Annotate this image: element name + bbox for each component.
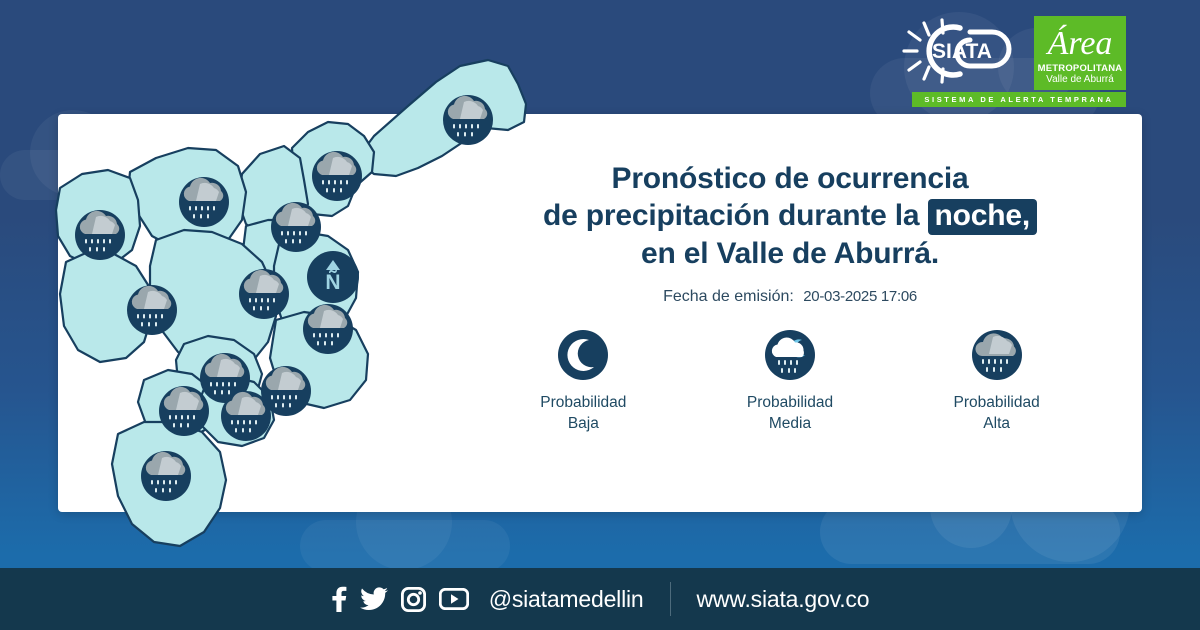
footer-divider bbox=[670, 582, 671, 616]
infographic-root: SIATA Área METROPOLITANA Valle de Aburrá… bbox=[0, 0, 1200, 630]
facebook-icon[interactable] bbox=[331, 586, 347, 612]
svg-text:Área: Área bbox=[1046, 25, 1113, 62]
logo-group: SIATA Área METROPOLITANA Valle de Aburrá… bbox=[898, 16, 1130, 108]
legend-label-media: Probabilidad Media bbox=[747, 392, 833, 434]
headline-block: Pronóstico de ocurrencia de precipitació… bbox=[470, 160, 1110, 306]
siata-tagline-bar: SISTEMA DE ALERTA TEMPRANA bbox=[912, 92, 1126, 107]
marker-medellin-cloud-rain-icon[interactable] bbox=[239, 269, 289, 319]
legend-alta-line2: Alta bbox=[954, 413, 1040, 434]
marker-copacabana-cloud-rain-icon[interactable] bbox=[271, 202, 321, 252]
legend-item-baja: Probabilidad Baja bbox=[498, 330, 668, 434]
siata-tagline-text: SISTEMA DE ALERTA TEMPRANA bbox=[924, 95, 1113, 104]
headline-highlight: noche, bbox=[928, 199, 1037, 235]
legend-item-alta: Probabilidad Alta bbox=[912, 330, 1082, 434]
legend-media-line1: Probabilidad bbox=[747, 392, 833, 413]
marker-envigado-cloud-rain-icon[interactable] bbox=[303, 304, 353, 354]
valle-de-aburra-map: Ñ bbox=[56, 44, 576, 574]
social-icons bbox=[331, 586, 469, 612]
moon-icon bbox=[558, 330, 608, 380]
website-link[interactable]: www.siata.gov.co bbox=[697, 586, 870, 613]
marker-caldas-cloud-rain-icon[interactable] bbox=[141, 451, 191, 501]
siata-logo-icon: SIATA bbox=[898, 18, 1026, 84]
legend-label-alta: Probabilidad Alta bbox=[954, 392, 1040, 434]
marker-san-pedro-cloud-rain-icon[interactable] bbox=[179, 177, 229, 227]
marker-caldas-norte-cloud-rain-icon[interactable] bbox=[261, 366, 311, 416]
emission-date: Fecha de emisión: 20-03-2025 17:06 bbox=[470, 288, 1110, 306]
twitter-icon[interactable] bbox=[360, 587, 388, 611]
marker-bello-norte-cloud-rain-icon[interactable] bbox=[75, 210, 125, 260]
svg-text:SIATA: SIATA bbox=[932, 40, 992, 63]
youtube-icon[interactable] bbox=[439, 588, 469, 610]
footer-bar: @siatamedellin www.siata.gov.co bbox=[0, 568, 1200, 630]
headline-line-1: Pronóstico de ocurrencia bbox=[470, 160, 1110, 197]
headline-line-2-text: de precipitación durante la bbox=[543, 199, 919, 232]
legend-baja-line2: Baja bbox=[540, 413, 626, 434]
instagram-icon[interactable] bbox=[401, 587, 426, 612]
cloud-rain-icon bbox=[972, 330, 1022, 380]
marker-bello-cloud-rain-icon[interactable] bbox=[127, 285, 177, 335]
metro-line1: METROPOLITANA bbox=[1038, 64, 1123, 74]
municipality-barbosa bbox=[356, 60, 526, 176]
legend-media-line2: Media bbox=[747, 413, 833, 434]
social-handle[interactable]: @siatamedellin bbox=[489, 586, 644, 613]
area-metropolitana-logo: Área METROPOLITANA Valle de Aburrá bbox=[1034, 16, 1126, 90]
headline-line-3: en el Valle de Aburrá. bbox=[470, 235, 1110, 272]
legend-alta-line1: Probabilidad bbox=[954, 392, 1040, 413]
metro-line2: Valle de Aburrá bbox=[1046, 74, 1114, 85]
area-script-icon: Área bbox=[1042, 18, 1118, 64]
legend-item-media: Probabilidad Media bbox=[705, 330, 875, 434]
legend: Probabilidad Baja Proba bbox=[480, 330, 1100, 434]
legend-baja-line1: Probabilidad bbox=[540, 392, 626, 413]
cloud-moon-rain-icon bbox=[765, 330, 815, 380]
legend-label-baja: Probabilidad Baja bbox=[540, 392, 626, 434]
marker-girardota-cloud-rain-icon[interactable] bbox=[312, 151, 362, 201]
headline-line-2: de precipitación durante la noche, bbox=[470, 197, 1110, 235]
compass-label: Ñ bbox=[325, 271, 340, 294]
emission-date-label: Fecha de emisión: bbox=[663, 288, 794, 305]
marker-sabaneta-cloud-rain-icon[interactable] bbox=[159, 386, 209, 436]
compass-badge: Ñ bbox=[307, 251, 359, 303]
emission-date-value: 20-03-2025 17:06 bbox=[803, 288, 917, 305]
marker-barbosa-cloud-rain-icon[interactable] bbox=[443, 95, 493, 145]
